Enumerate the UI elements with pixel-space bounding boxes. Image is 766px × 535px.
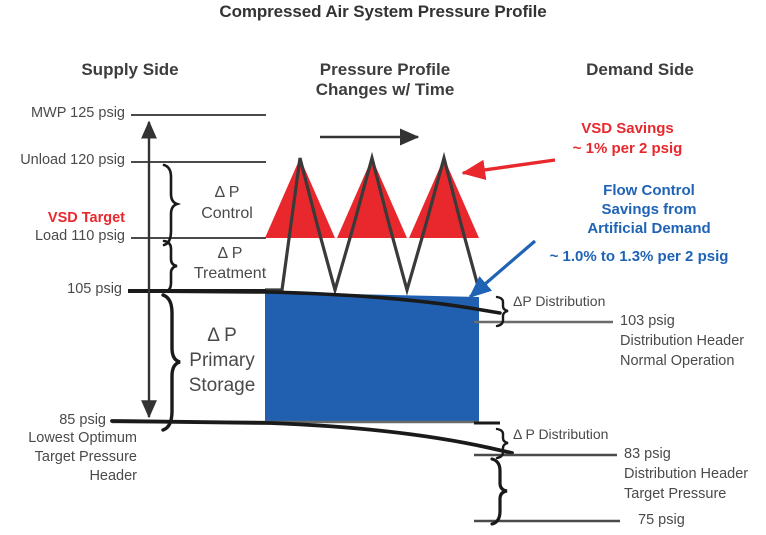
supply-braces (163, 165, 180, 430)
label-lowest-optimum-line2: Target Pressure (0, 449, 137, 465)
label-delta-p-storage-line1: Δ P (180, 325, 264, 346)
label-83-desc-line1: Distribution Header (624, 466, 748, 482)
label-lowest-optimum-line1: Lowest Optimum (0, 430, 137, 446)
label-lowest-optimum-line3: Header (0, 468, 137, 484)
brace-delta-p-control (164, 165, 177, 245)
label-85-psig: 85 psig (0, 412, 106, 428)
demand-braces (492, 297, 508, 524)
label-delta-p-control-line2: Control (182, 205, 272, 223)
heading-demand-side: Demand Side (540, 60, 740, 79)
label-75-psig: 75 psig (638, 512, 685, 528)
label-105-psig: 105 psig (0, 281, 122, 297)
page-title: Compressed Air System Pressure Profile (0, 2, 766, 21)
label-83-psig: 83 psig (624, 446, 671, 462)
brace-artificial-demand (492, 459, 507, 524)
callout-vsd-savings-line1: VSD Savings (520, 120, 735, 139)
callout-flow-control-line1: Flow Control (540, 182, 758, 201)
demand-pressure-lines (474, 322, 620, 521)
label-delta-p-control-line1: Δ P (182, 184, 272, 202)
callout-vsd-savings-line2: ~ 1% per 2 psig (520, 140, 735, 159)
label-delta-p-treatment-line2: Treatment (180, 265, 280, 283)
label-delta-p-treatment-line1: Δ P (180, 245, 280, 263)
brace-delta-p-storage (163, 295, 180, 430)
label-103-desc-line2: Normal Operation (620, 353, 734, 369)
primary-storage-blue-area (265, 292, 479, 421)
callout-flow-control-line2: Savings from (540, 201, 758, 220)
label-83-desc-line2: Target Pressure (624, 486, 726, 502)
label-delta-p-storage-line2: Primary (180, 350, 264, 371)
heading-center-line2: Changes w/ Time (280, 80, 490, 99)
vsd-savings-callout-arrow (463, 160, 555, 173)
pressure-profile-diagram: Compressed Air System Pressure Profile S… (0, 0, 766, 535)
heading-supply-side: Supply Side (30, 60, 230, 79)
brace-delta-p-treatment (164, 241, 177, 292)
callout-flow-control-line4: ~ 1.0% to 1.3% per 2 psig (516, 248, 762, 267)
heading-center-line1: Pressure Profile (280, 60, 490, 79)
line-85-psig-group (112, 421, 512, 453)
label-103-desc-line1: Distribution Header (620, 333, 744, 349)
label-dp-distribution-lower: Δ P Distribution (513, 427, 608, 443)
label-delta-p-storage-line3: Storage (180, 375, 264, 396)
callout-flow-control-line3: Artificial Demand (540, 220, 758, 239)
label-mwp-125-psig: MWP 125 psig (0, 105, 125, 121)
label-vsd-target: VSD Target (0, 210, 125, 226)
label-dp-distribution-upper: ΔP Distribution (513, 294, 605, 310)
label-103-psig: 103 psig (620, 313, 675, 329)
label-load-110-psig: Load 110 psig (0, 228, 125, 244)
label-unload-120-psig: Unload 120 psig (0, 152, 125, 168)
